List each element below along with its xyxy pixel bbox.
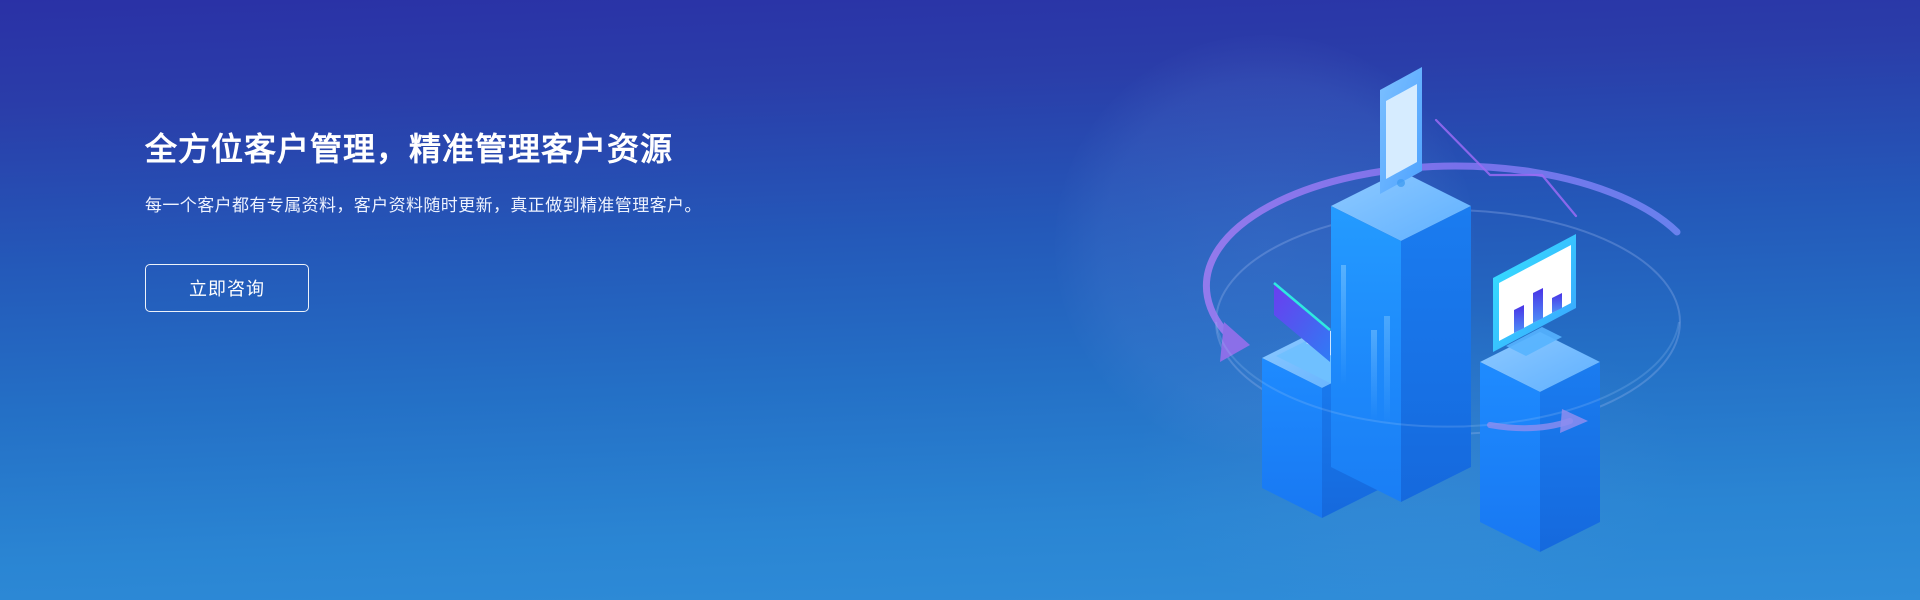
pillar-center [1331, 171, 1471, 502]
tablet-home-button [1397, 179, 1405, 187]
pillar-light-streak-3 [1384, 316, 1390, 426]
pillar-center-side [1401, 206, 1471, 502]
hero-banner: 全方位客户管理，精准管理客户资源 每一个客户都有专属资料，客户资料随时更新，真正… [0, 0, 1920, 600]
arrow-head-left [1220, 322, 1250, 362]
monitor-icon [1493, 234, 1576, 356]
pillar-right-front [1480, 362, 1540, 552]
pillar-light-streak-2 [1371, 330, 1377, 420]
hero-subtitle: 每一个客户都有专属资料，客户资料随时更新，真正做到精准管理客户。 [145, 193, 745, 219]
pillar-right-side [1540, 362, 1600, 552]
hero-illustration [1190, 40, 1710, 570]
chart-bar-2 [1533, 288, 1543, 323]
pillar-light-streak-1 [1341, 265, 1346, 385]
tablet-icon [1380, 67, 1422, 194]
consult-now-button[interactable]: 立即咨询 [145, 264, 309, 312]
pillar-right [1480, 332, 1600, 552]
hero-copy: 全方位客户管理，精准管理客户资源 每一个客户都有专属资料，客户资料随时更新，真正… [145, 128, 785, 312]
page-title: 全方位客户管理，精准管理客户资源 [145, 128, 785, 171]
